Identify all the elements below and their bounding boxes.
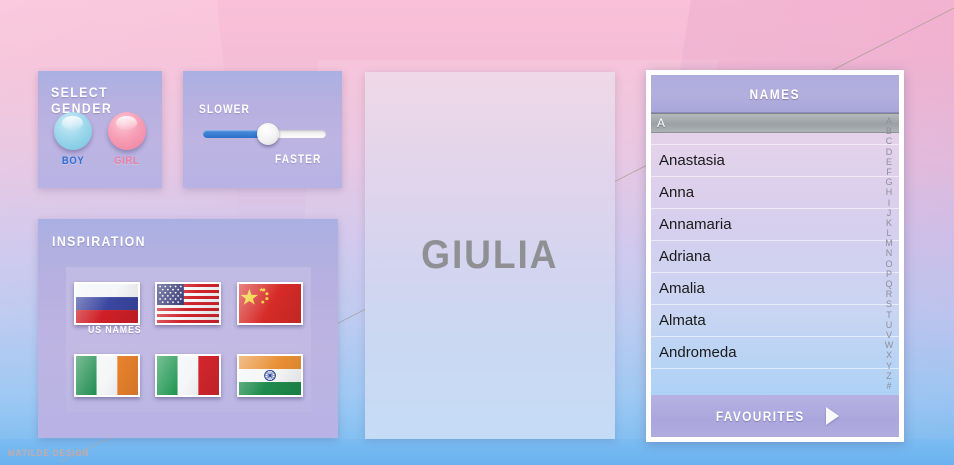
background-bottom-band (0, 439, 954, 465)
alphabet-index-letter[interactable]: K (886, 219, 892, 228)
alphabet-index-letter[interactable]: B (886, 127, 892, 136)
names-panel-inner: NAMES AdaAnastasiaAnnaAnnamariaAdrianaAm… (651, 75, 899, 437)
alphabet-index[interactable]: ABCDEFGHIJKLMNOPQRSTUVWXYZ# (881, 117, 897, 391)
alphabet-index-letter[interactable]: # (886, 382, 891, 391)
gender-options: BOY GIRL (38, 112, 162, 167)
flag-tooltip: US NAMES (88, 325, 142, 336)
name-list-item[interactable]: Anna (651, 177, 899, 209)
favourites-button[interactable]: FAVOURITES (651, 395, 899, 437)
flag-grid (66, 267, 311, 412)
slider-fill (203, 130, 262, 138)
alphabet-index-letter[interactable]: P (886, 270, 892, 279)
slider-min-label: SLOWER (199, 102, 250, 116)
play-triangle-icon (826, 406, 842, 426)
inspiration-title: INSPIRATION (52, 233, 146, 249)
gender-label-boy: BOY (62, 155, 85, 167)
alphabet-index-letter[interactable]: Q (885, 280, 892, 289)
names-header-label: NAMES (750, 86, 801, 102)
alphabet-index-letter[interactable]: T (886, 311, 892, 320)
alphabet-index-letter[interactable]: C (886, 137, 893, 146)
alphabet-index-letter[interactable]: O (885, 260, 892, 269)
name-list-item[interactable]: Amalia (651, 273, 899, 305)
alphabet-index-letter[interactable]: F (886, 168, 892, 177)
watermark: MATILDE DESIGN (8, 448, 89, 458)
favourites-label: FAVOURITES (716, 408, 805, 424)
alphabet-index-letter[interactable]: G (885, 178, 892, 187)
alphabet-index-letter[interactable]: I (888, 199, 891, 208)
section-header-letter: A (651, 116, 665, 130)
slider-thumb[interactable] (257, 123, 279, 145)
italy-flag[interactable] (155, 354, 221, 397)
name-list-item[interactable]: Anastasia (651, 145, 899, 177)
alphabet-index-letter[interactable]: R (886, 290, 893, 299)
alphabet-index-letter[interactable]: Z (886, 372, 892, 381)
speed-panel: SLOWER FASTER (183, 71, 342, 188)
ireland-flag[interactable] (74, 354, 140, 397)
slider-max-label: FASTER (275, 152, 321, 166)
gender-option-girl[interactable]: GIRL (108, 112, 146, 167)
alphabet-index-letter[interactable]: H (886, 188, 893, 197)
section-header-a: A (651, 113, 899, 133)
pink-orb-icon[interactable] (108, 112, 146, 150)
name-list-item[interactable]: Andromeda (651, 337, 899, 369)
alphabet-index-letter[interactable]: X (886, 351, 892, 360)
alphabet-index-letter[interactable]: U (886, 321, 893, 330)
preview-name-text: GIULIA (421, 233, 558, 278)
name-list-item[interactable]: Almata (651, 305, 899, 337)
alphabet-index-letter[interactable]: M (885, 239, 893, 248)
alphabet-index-letter[interactable]: W (885, 341, 894, 350)
inspiration-panel: INSPIRATION (38, 219, 338, 438)
gender-label-girl: GIRL (114, 155, 139, 167)
alphabet-index-letter[interactable]: L (886, 229, 891, 238)
alphabet-index-letter[interactable]: A (886, 117, 892, 126)
alphabet-index-letter[interactable]: N (886, 249, 893, 258)
alphabet-index-letter[interactable]: D (886, 148, 893, 157)
alphabet-index-letter[interactable]: S (886, 300, 892, 309)
gender-option-boy[interactable]: BOY (54, 112, 92, 167)
usa-flag[interactable] (155, 282, 221, 325)
name-list-item[interactable]: Adriana (651, 241, 899, 273)
alphabet-index-letter[interactable]: J (887, 209, 892, 218)
name-list-item[interactable]: Annamaria (651, 209, 899, 241)
names-header: NAMES (651, 75, 899, 113)
alphabet-index-letter[interactable]: V (886, 331, 892, 340)
alphabet-index-letter[interactable]: Y (886, 362, 892, 371)
name-preview-panel: GIULIA (365, 72, 615, 439)
names-panel: NAMES AdaAnastasiaAnnaAnnamariaAdrianaAm… (646, 70, 904, 442)
speed-slider[interactable] (203, 123, 326, 145)
russia-flag[interactable] (74, 282, 140, 325)
china-flag[interactable] (237, 282, 303, 325)
alphabet-index-letter[interactable]: E (886, 158, 892, 167)
select-gender-panel: SELECT GENDER BOY GIRL (38, 71, 162, 188)
names-list[interactable]: AdaAnastasiaAnnaAnnamariaAdrianaAmaliaAl… (651, 113, 899, 395)
blue-orb-icon[interactable] (54, 112, 92, 150)
india-flag[interactable] (237, 354, 303, 397)
